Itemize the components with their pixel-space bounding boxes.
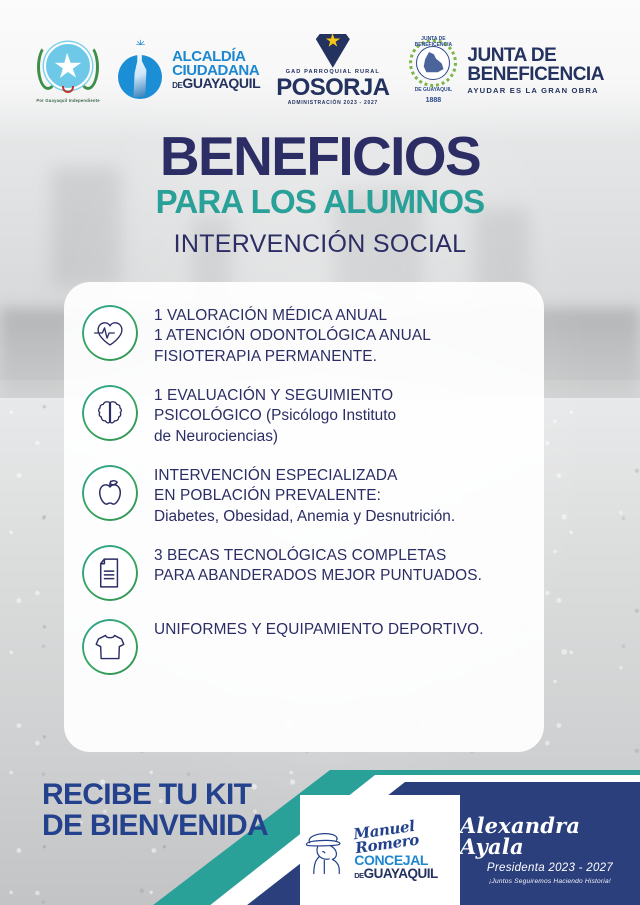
independence-seal-caption: Por Guayaquil Independiente: [36, 98, 100, 103]
list-item-text: UNIFORMES Y EQUIPAMIENTO DEPORTIVO.: [154, 619, 484, 640]
junta-seal-icon: JUNTA DE BENEFICENCIA DE GUAYAQUIL 1888: [405, 37, 461, 103]
torch-rays-icon: [136, 39, 145, 51]
junta-seal-top-text: JUNTA DE BENEFICENCIA: [405, 36, 461, 48]
benefit-line: INTERVENCIÓN ESPECIALIZADA: [154, 466, 455, 486]
junta-wordmark: JUNTA DE BENEFICENCIA AYUDAR ES LA GRAN …: [467, 46, 604, 95]
president-slogan: ¡Juntos Seguiremos Haciendo Historia!: [489, 878, 611, 885]
romero-role-main: GUAYAQUIL: [364, 866, 438, 881]
apple-icon: [82, 465, 138, 521]
benefit-line: de Neurociencias): [154, 427, 396, 447]
benefit-line: UNIFORMES Y EQUIPAMIENTO DEPORTIVO.: [154, 620, 484, 640]
posorja-bottom-text: ADMINISTRACIÓN 2023 - 2027: [276, 101, 389, 106]
list-item: 3 BECAS TECNOLÓGICAS COMPLETAS PARA ABAN…: [64, 536, 544, 610]
brain-icon: [82, 385, 138, 441]
tshirt-icon: [82, 619, 138, 675]
list-item-text: INTERVENCIÓN ESPECIALIZADA EN POBLACIÓN …: [154, 465, 455, 527]
benefit-line: EN POBLACIÓN PREVALENTE:: [154, 486, 455, 506]
alcaldia-wordmark: ALCALDÍA CIUDADANA DEGUAYAQUIL: [172, 50, 260, 90]
junta-tagline: AYUDAR ES LA GRAN OBRA: [467, 87, 604, 95]
logo-manuel-romero: Manuel Romero CONCEJAL DEGUAYAQUIL: [300, 795, 460, 905]
seal-disc: [44, 42, 92, 90]
list-item: UNIFORMES Y EQUIPAMIENTO DEPORTIVO.: [64, 610, 544, 684]
junta-line2: BENEFICENCIA: [467, 65, 604, 84]
list-item-text: 1 EVALUACIÓN Y SEGUIMIENTO PSICOLÓGICO (…: [154, 385, 396, 447]
benefit-line: FISIOTERAPIA PERMANENTE.: [154, 347, 431, 367]
posorja-star-icon: [326, 34, 340, 46]
list-item-text: 3 BECAS TECNOLÓGICAS COMPLETAS PARA ABAN…: [154, 545, 482, 587]
logo-junta-beneficencia: JUNTA DE BENEFICENCIA DE GUAYAQUIL 1888 …: [405, 37, 604, 103]
romero-portrait-icon: [300, 819, 350, 881]
heart-pulse-icon: [82, 305, 138, 361]
benefit-line: PARA ABANDERADOS MEJOR PUNTUADOS.: [154, 566, 482, 586]
kit-callout: RECIBE TU KIT DE BIENVENIDA: [42, 780, 268, 841]
header-logo-strip: Por Guayaquil Independiente ALCALDÍA CIU…: [0, 0, 640, 140]
list-item: 1 EVALUACIÓN Y SEGUIMIENTO PSICOLÓGICO (…: [64, 376, 544, 456]
alcaldia-line3-main: GUAYAQUIL: [182, 75, 260, 91]
independence-seal-icon: Por Guayaquil Independiente: [36, 38, 100, 102]
alcaldia-line3-prefix: DE: [172, 81, 182, 90]
ribbon-knot-icon: [62, 86, 74, 93]
star-icon: [55, 55, 81, 77]
page-subtitle: PARA LOS ALUMNOS: [0, 185, 640, 218]
benefit-line: 1 VALORACIÓN MÉDICA ANUAL: [154, 306, 431, 326]
list-item: 1 VALORACIÓN MÉDICA ANUAL 1 ATENCIÓN ODO…: [64, 296, 544, 376]
document-icon: [82, 545, 138, 601]
president-card: Alexandra Ayala Presidenta 2023 - 2027 ¡…: [460, 795, 640, 905]
benefit-line: 3 BECAS TECNOLÓGICAS COMPLETAS: [154, 546, 482, 566]
logo-gad-posorja: GAD PARROQUIAL RURAL POSORJA ADMINISTRAC…: [276, 34, 389, 107]
kit-line1: RECIBE TU KIT: [42, 780, 268, 811]
president-name: Alexandra Ayala: [460, 815, 640, 857]
benefit-line: PSICOLÓGICO (Psicólogo Instituto: [154, 406, 396, 426]
posorja-title: POSORJA: [276, 76, 389, 100]
junta-seal-year: 1888: [405, 97, 461, 104]
footer: RECIBE TU KIT DE BIENVENIDA Manuel Romer…: [0, 750, 640, 905]
benefit-line: 1 ATENCIÓN ODONTOLÓGICA ANUAL: [154, 326, 431, 346]
benefit-line: Diabetes, Obesidad, Anemia y Desnutrició…: [154, 507, 455, 527]
page-title: BENEFICIOS: [0, 130, 640, 183]
page-section-label: INTERVENCIÓN SOCIAL: [0, 230, 640, 259]
list-item: INTERVENCIÓN ESPECIALIZADA EN POBLACIÓN …: [64, 456, 544, 536]
romero-signature: Manuel Romero: [353, 812, 462, 855]
logo-independence-seal: Por Guayaquil Independiente: [36, 38, 100, 102]
romero-role-line2: DEGUAYAQUIL: [354, 867, 460, 881]
logo-alcaldia-guayaquil: ALCALDÍA CIUDADANA DEGUAYAQUIL: [116, 39, 260, 101]
romero-wordmark: Manuel Romero CONCEJAL DEGUAYAQUIL: [354, 820, 460, 881]
list-item-text: 1 VALORACIÓN MÉDICA ANUAL 1 ATENCIÓN ODO…: [154, 305, 431, 367]
junta-line1: JUNTA DE: [467, 46, 604, 65]
benefits-card: 1 VALORACIÓN MÉDICA ANUAL 1 ATENCIÓN ODO…: [64, 282, 544, 752]
junta-seal-bottom-text: DE GUAYAQUIL: [405, 87, 461, 93]
alcaldia-monument-icon: [116, 39, 166, 101]
benefits-list: 1 VALORACIÓN MÉDICA ANUAL 1 ATENCIÓN ODO…: [64, 282, 544, 684]
alcaldia-line3: DEGUAYAQUIL: [172, 77, 260, 90]
kit-line2: DE BIENVENIDA: [42, 811, 268, 842]
president-role: Presidenta 2023 - 2027: [487, 862, 613, 874]
posorja-shield-icon: [316, 34, 350, 68]
poster-titles: BENEFICIOS PARA LOS ALUMNOS INTERVENCIÓN…: [0, 130, 640, 259]
benefit-line: 1 EVALUACIÓN Y SEGUIMIENTO: [154, 386, 396, 406]
romero-role-prefix: DE: [354, 871, 363, 880]
